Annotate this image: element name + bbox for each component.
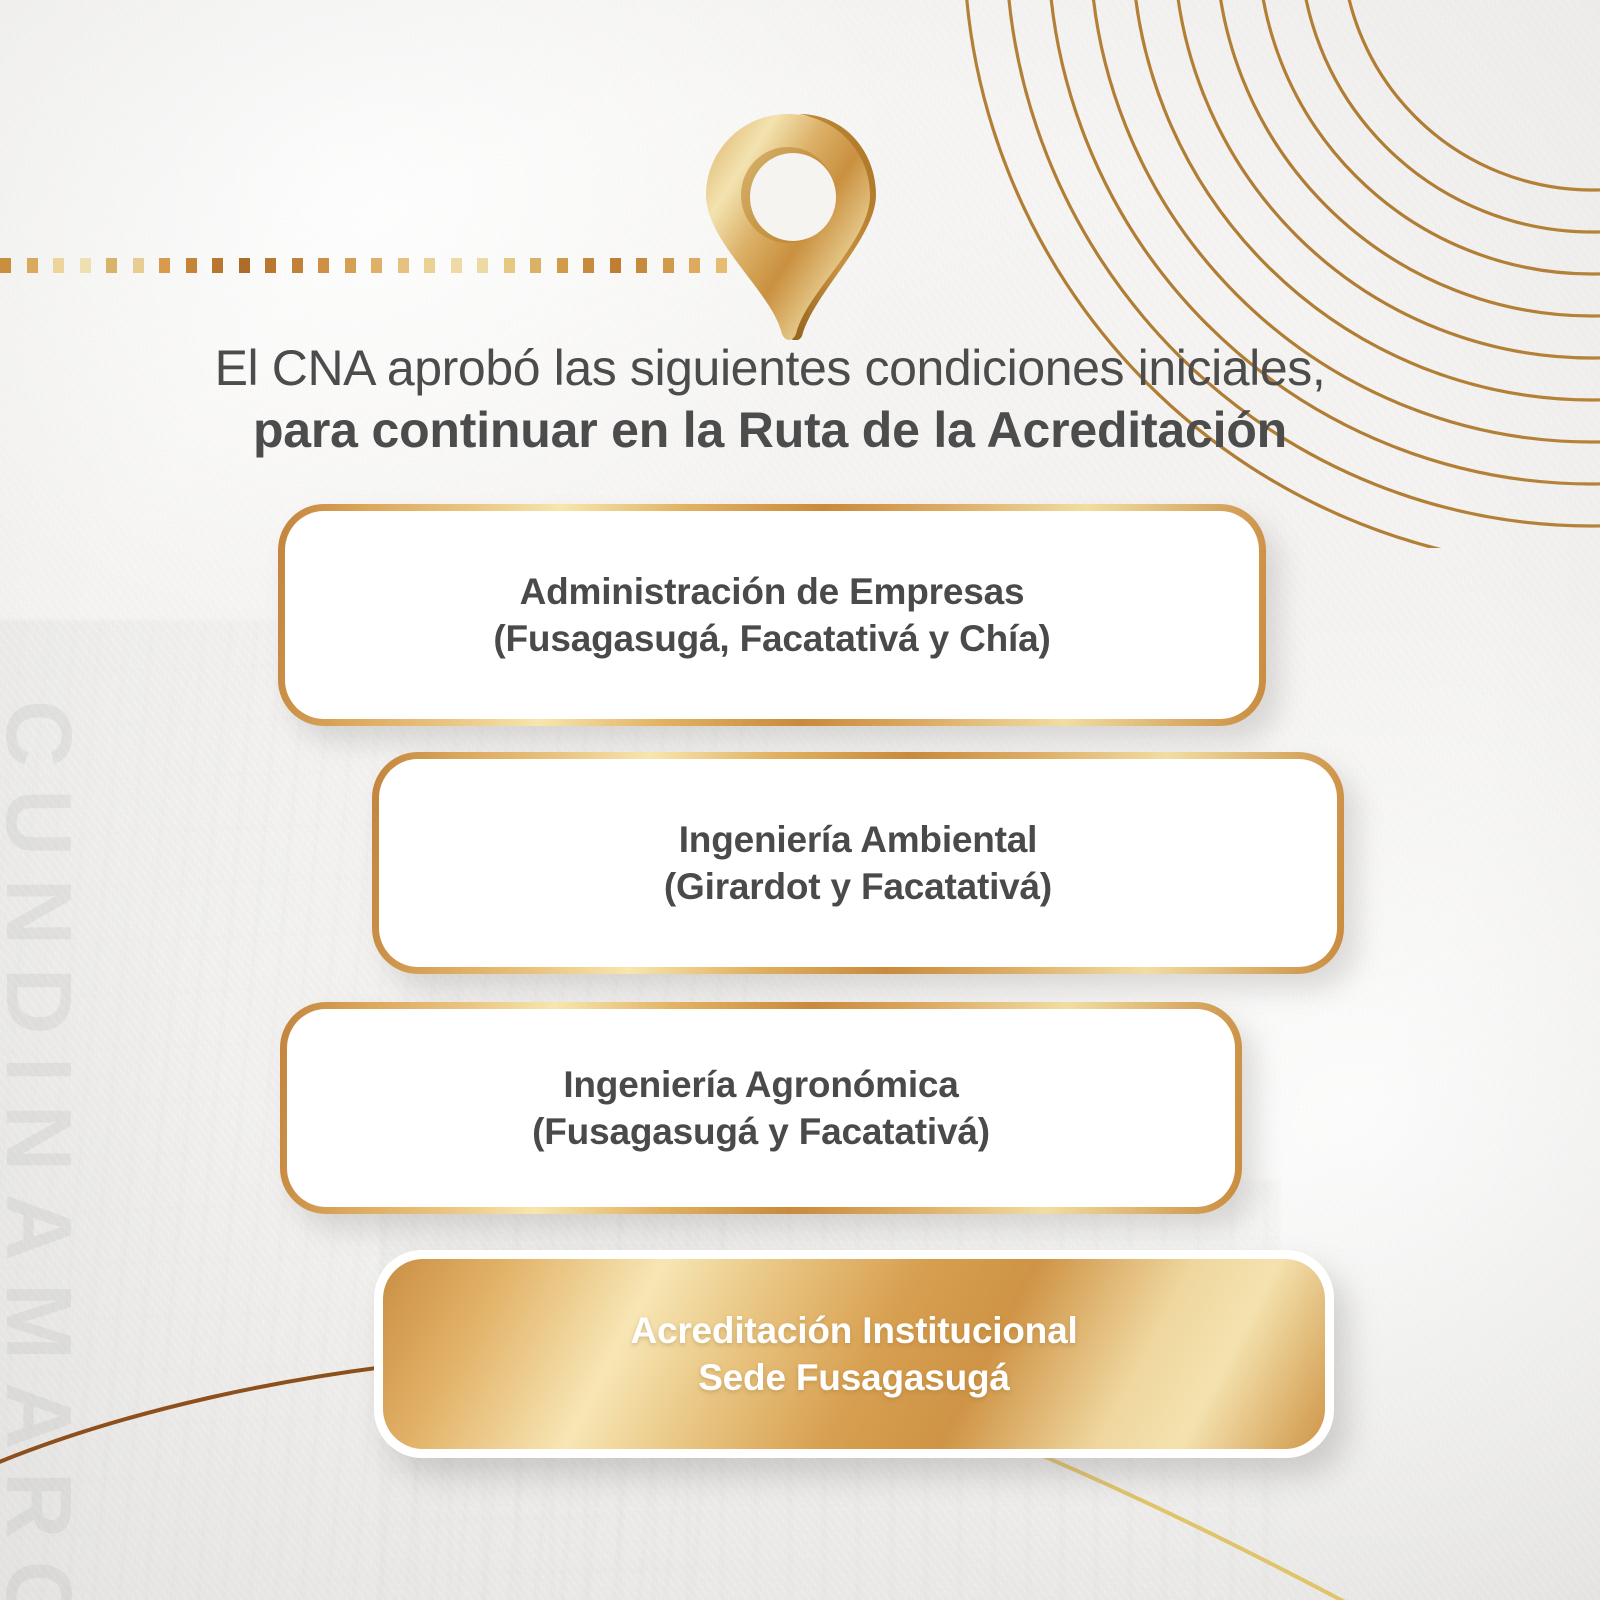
card-face: Acreditación Institucional Sede Fusagasu… <box>383 1259 1325 1449</box>
card-text: Administración de Empresas (Fusagasugá, … <box>453 568 1090 663</box>
card-title-line1: Ingeniería Agronómica <box>532 1061 990 1108</box>
card-text: Acreditación Institucional Sede Fusagasu… <box>590 1307 1117 1402</box>
card-ingenieria-ambiental[interactable]: Ingeniería Ambiental (Girardot y Facatat… <box>372 752 1344 974</box>
card-title-line1: Ingeniería Ambiental <box>664 816 1052 863</box>
card-text: Ingeniería Agronómica (Fusagasugá y Faca… <box>492 1061 1030 1156</box>
card-acreditacion-institucional[interactable]: Acreditación Institucional Sede Fusagasu… <box>374 1250 1334 1458</box>
card-text: Ingeniería Ambiental (Girardot y Facatat… <box>624 816 1092 911</box>
page-title: El CNA aprobó las siguientes condiciones… <box>70 340 1470 458</box>
card-face: Administración de Empresas (Fusagasugá, … <box>285 511 1259 719</box>
page-title-line2: para continuar en la Ruta de la Acredita… <box>70 402 1470 458</box>
card-administracion-empresas[interactable]: Administración de Empresas (Fusagasugá, … <box>278 504 1266 726</box>
map-pin-icon <box>700 112 880 340</box>
card-title-line2: (Girardot y Facatativá) <box>664 863 1052 910</box>
card-face: Ingeniería Ambiental (Girardot y Facatat… <box>379 759 1337 967</box>
card-ingenieria-agronomica[interactable]: Ingeniería Agronómica (Fusagasugá y Faca… <box>280 1002 1242 1214</box>
page-title-line1: El CNA aprobó las siguientes condiciones… <box>70 340 1470 396</box>
card-title-line1: Acreditación Institucional <box>630 1307 1077 1354</box>
card-title-line2: (Fusagasugá, Facatativá y Chía) <box>493 615 1050 662</box>
card-title-line2: (Fusagasugá y Facatativá) <box>532 1108 990 1155</box>
card-title-line1: Administración de Empresas <box>493 568 1050 615</box>
poster-canvas: CUNDINAMARCA <box>0 0 1600 1600</box>
card-title-line2: Sede Fusagasugá <box>630 1354 1077 1401</box>
card-face: Ingeniería Agronómica (Fusagasugá y Faca… <box>287 1009 1235 1207</box>
